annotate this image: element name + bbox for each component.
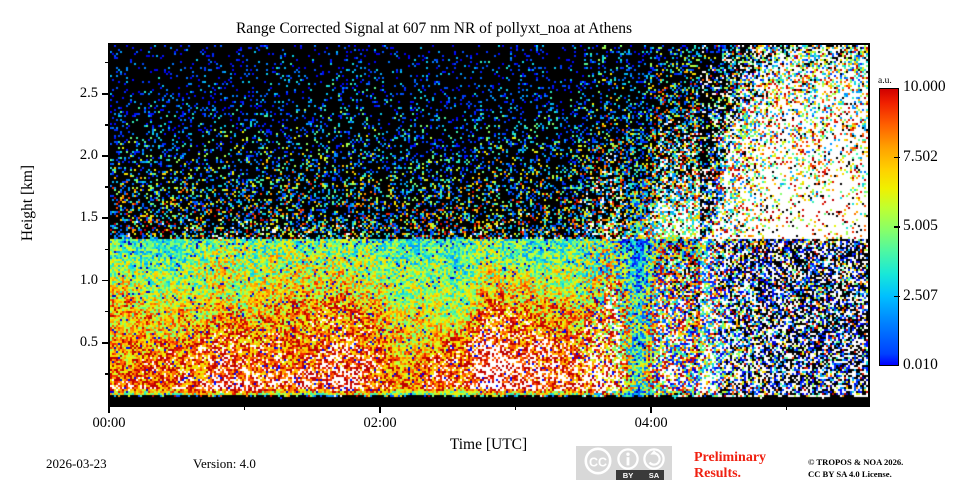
- cc-by-sa-icon: CC BY SA: [576, 446, 672, 480]
- x-tick-minor: [515, 406, 517, 410]
- axis-spine-top: [108, 43, 870, 45]
- y-tick-label: 1.0: [80, 272, 98, 289]
- x-tick-major: [379, 406, 381, 413]
- colorbar-tick-label: 10.000: [903, 78, 946, 96]
- y-tick-label: 2.0: [80, 147, 98, 164]
- axis-spine-bottom: [108, 405, 870, 407]
- colorbar-tick-label: 0.010: [903, 356, 938, 374]
- y-tick-minor: [105, 249, 109, 251]
- y-axis-label: Height [km]: [19, 113, 37, 293]
- y-tick-major: [102, 342, 109, 344]
- heatmap-canvas[interactable]: [110, 45, 869, 406]
- copyright-line-2: CC BY SA 4.0 License.: [808, 469, 903, 480]
- version-label: Version: 4.0: [193, 456, 256, 472]
- x-tick-label: 04:00: [635, 415, 668, 432]
- axis-spine-right: [868, 43, 870, 406]
- cc-license-badge[interactable]: CC BY SA: [576, 446, 672, 480]
- colorbar-unit-label: a.u.: [878, 76, 892, 86]
- y-tick-minor: [105, 124, 109, 126]
- y-tick-minor: [105, 373, 109, 375]
- y-tick-major: [102, 280, 109, 282]
- heatmap-plot-area[interactable]: [109, 44, 870, 407]
- y-tick-label: 1.5: [80, 209, 98, 226]
- y-tick-major: [102, 155, 109, 157]
- colorbar-tick: [894, 157, 900, 158]
- x-tick-minor: [244, 406, 246, 410]
- y-tick-label: 0.5: [80, 334, 98, 351]
- colorbar-tick-label: 2.507: [903, 287, 938, 305]
- x-tick-major: [108, 406, 110, 413]
- colorbar-tick: [894, 296, 900, 297]
- x-tick-label: 00:00: [92, 415, 125, 432]
- measurement-date: 2026-03-23: [46, 456, 107, 472]
- svg-text:CC: CC: [589, 456, 607, 470]
- axis-spine-left: [108, 43, 110, 406]
- quicklook-figure: Range Corrected Signal at 607 nm NR of p…: [0, 0, 960, 480]
- y-tick-minor: [105, 311, 109, 313]
- svg-text:BY: BY: [623, 471, 634, 480]
- x-tick-major: [650, 406, 652, 413]
- y-tick-minor: [105, 186, 109, 188]
- y-tick-label: 2.5: [80, 85, 98, 102]
- preliminary-line-1: Preliminary: [694, 450, 766, 466]
- y-tick-minor: [105, 62, 109, 64]
- page-title: Range Corrected Signal at 607 nm NR of p…: [0, 20, 868, 38]
- copyright-notice: © TROPOS & NOA 2026. CC BY SA 4.0 Licens…: [808, 457, 903, 480]
- colorbar-tick: [894, 226, 900, 227]
- copyright-line-1: © TROPOS & NOA 2026.: [808, 457, 903, 469]
- preliminary-line-2: Results.: [694, 466, 766, 480]
- preliminary-results-notice: Preliminary Results.: [694, 450, 766, 480]
- colorbar-tick-label: 5.005: [903, 217, 938, 235]
- x-tick-label: 02:00: [364, 415, 397, 432]
- y-tick-major: [102, 217, 109, 219]
- x-tick-minor: [786, 406, 788, 410]
- svg-text:SA: SA: [649, 471, 660, 480]
- colorbar-tick-label: 7.502: [903, 148, 938, 166]
- y-tick-major: [102, 93, 109, 95]
